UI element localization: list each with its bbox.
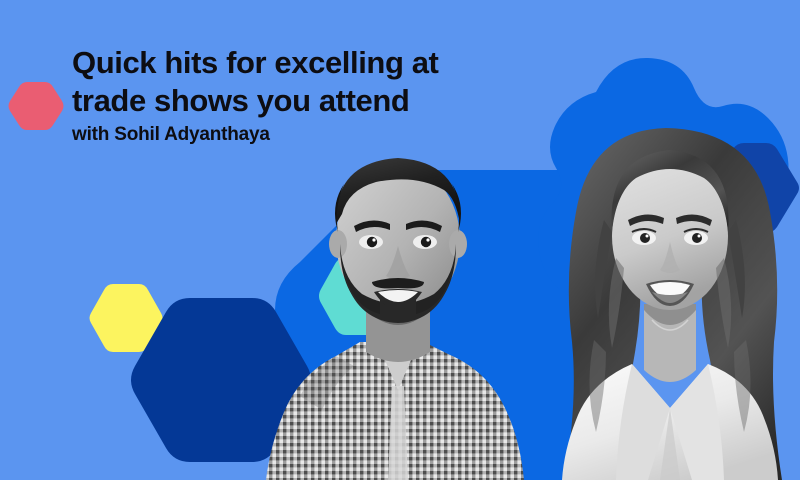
title-block: Quick hits for excelling at trade shows … bbox=[72, 44, 512, 147]
speaker-left-photo bbox=[248, 128, 548, 480]
speaker-right-photo bbox=[520, 108, 800, 480]
page-title: Quick hits for excelling at trade shows … bbox=[72, 44, 512, 120]
promo-banner: Quick hits for excelling at trade shows … bbox=[0, 0, 800, 480]
speaker-subtitle: with Sohil Adyanthaya bbox=[72, 123, 512, 147]
